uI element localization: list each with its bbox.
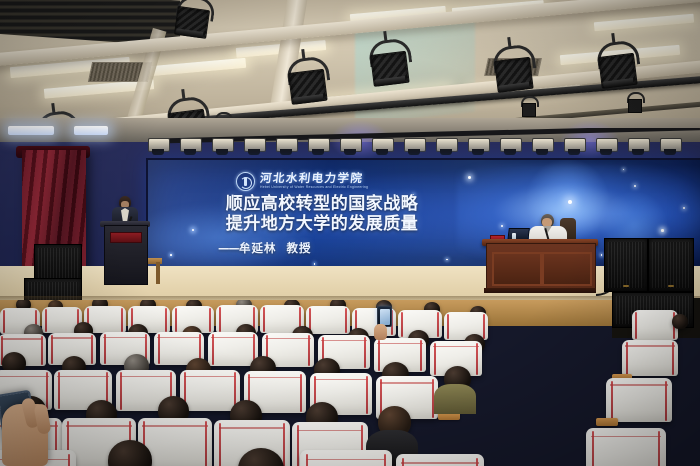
desk-panel [492,252,542,286]
audience-seat[interactable] [622,340,678,376]
audience-seat[interactable] [606,378,672,422]
audience-seat[interactable] [180,370,240,411]
stage-spotlight-icon [365,38,410,87]
desk-base [484,288,596,293]
audience-head [672,314,688,329]
stage-spotlight-icon [489,44,534,93]
stage-spotlight-icon [593,40,638,89]
audience-seat[interactable] [396,454,484,466]
stage-spotlight-icon [283,56,328,105]
audience-seat[interactable] [306,306,350,334]
auditorium-photo: 河北水利电力学院 Hebei University of Water Resou… [0,0,700,466]
audience-hand [374,324,387,340]
desk-panel [542,252,592,286]
screen-truss-lamp-row [148,128,700,162]
audience-seat[interactable] [586,428,666,466]
audience-area [0,300,700,466]
ceiling-projector [171,0,212,38]
seat-armrest [596,418,618,426]
wall-light-strip [8,126,54,135]
ceiling-panel-light [150,58,247,76]
wall-light-strip [74,126,108,135]
clamp-light-icon [520,96,536,116]
pa-speaker-right-a [604,238,648,292]
ceiling-panel-light [594,14,694,32]
pa-speaker-right-b [648,238,694,292]
audience-seat[interactable] [632,310,678,340]
lectern-name-plate [110,232,142,243]
clamp-light-icon [626,92,642,112]
audience-shoulders [434,384,476,414]
audience-seat[interactable] [208,332,258,366]
side-table-leg [156,262,160,284]
audience-seat[interactable] [300,450,392,466]
